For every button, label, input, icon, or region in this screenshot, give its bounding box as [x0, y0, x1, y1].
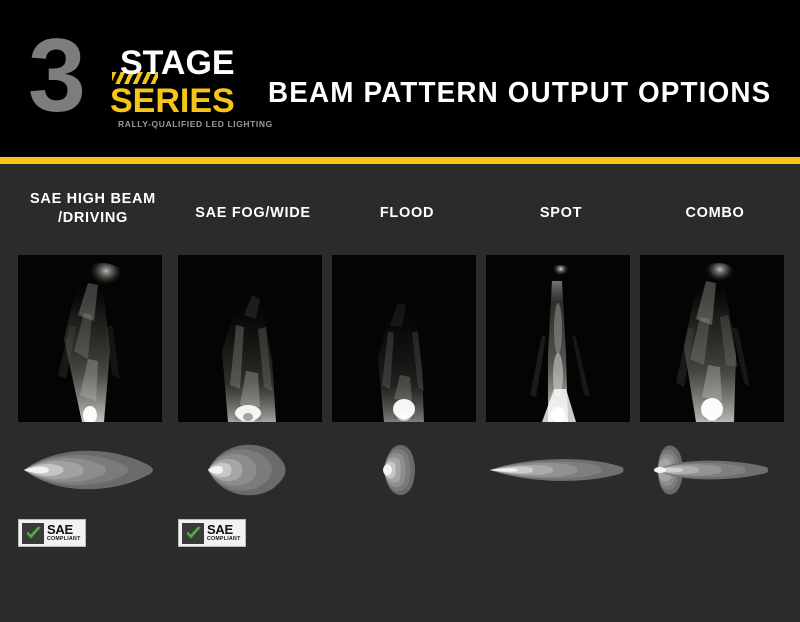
checkmark-glyph — [185, 526, 202, 541]
beam-pattern-grid: SAE HIGH BEAM /DRIVING — [0, 164, 800, 622]
badge-text: SAE COMPLIANT — [207, 523, 241, 543]
beam-photo-render — [640, 255, 784, 422]
column-label: SPOT — [472, 204, 650, 223]
beam-photo-combo — [640, 255, 784, 422]
column-flood: FLOOD — [332, 164, 482, 622]
beam-diagram-render — [178, 436, 330, 504]
logo-tagline: RALLY-QUALIFIED LED LIGHTING — [118, 120, 273, 129]
beam-photo-sae-fog-wide — [178, 255, 322, 422]
beam-diagram-sae-high-beam-driving — [18, 436, 170, 504]
page-title: BEAM PATTERN OUTPUT OPTIONS — [268, 78, 771, 108]
column-sae-high-beam-driving: SAE HIGH BEAM /DRIVING — [18, 164, 168, 622]
check-icon — [22, 523, 44, 544]
beam-photo-sae-high-beam-driving — [18, 255, 162, 422]
sae-compliant-badge: SAE COMPLIANT — [178, 519, 246, 547]
sae-compliant-badge: SAE COMPLIANT — [18, 519, 86, 547]
column-sae-fog-wide: SAE FOG/WIDE — [178, 164, 328, 622]
column-label: SAE FOG/WIDE — [164, 204, 342, 223]
beam-diagram-sae-fog-wide — [178, 436, 330, 504]
beam-diagram-render — [332, 436, 484, 504]
badge-title: SAE — [207, 523, 241, 536]
beam-diagram-render — [486, 436, 638, 504]
badge-subtitle: COMPLIANT — [47, 536, 81, 543]
column-spot: SPOT — [486, 164, 636, 622]
badge-title: SAE — [47, 523, 81, 536]
logo-word-stage: STAGE — [120, 46, 235, 80]
beam-photo-render — [178, 255, 322, 422]
check-icon — [182, 523, 204, 544]
badge-subtitle: COMPLIANT — [207, 536, 241, 543]
stage-series-logo: 3 STAGE SERIES RALLY-QUALIFIED LED LIGHT… — [28, 28, 238, 133]
beam-photo-render — [332, 255, 476, 422]
column-label: FLOOD — [318, 204, 496, 223]
beam-diagram-render — [18, 436, 170, 504]
beam-diagram-spot — [486, 436, 638, 504]
beam-photo-render — [486, 255, 630, 422]
beam-photo-spot — [486, 255, 630, 422]
beam-photo-flood — [332, 255, 476, 422]
beam-diagram-flood — [332, 436, 484, 504]
yellow-accent-divider — [0, 157, 800, 164]
badge-text: SAE COMPLIANT — [47, 523, 81, 543]
logo-numeral: 3 — [28, 24, 82, 128]
column-label: COMBO — [626, 204, 800, 223]
beam-diagram-combo — [640, 436, 792, 504]
column-combo: COMBO — [640, 164, 790, 622]
poster-header: 3 STAGE SERIES RALLY-QUALIFIED LED LIGHT… — [0, 0, 800, 157]
beam-diagram-render — [640, 436, 792, 504]
column-label: SAE HIGH BEAM /DRIVING — [4, 190, 182, 228]
beam-pattern-poster: 3 STAGE SERIES RALLY-QUALIFIED LED LIGHT… — [0, 0, 800, 622]
logo-word-series: SERIES — [110, 84, 235, 118]
beam-photo-render — [18, 255, 162, 422]
checkmark-glyph — [25, 526, 42, 541]
